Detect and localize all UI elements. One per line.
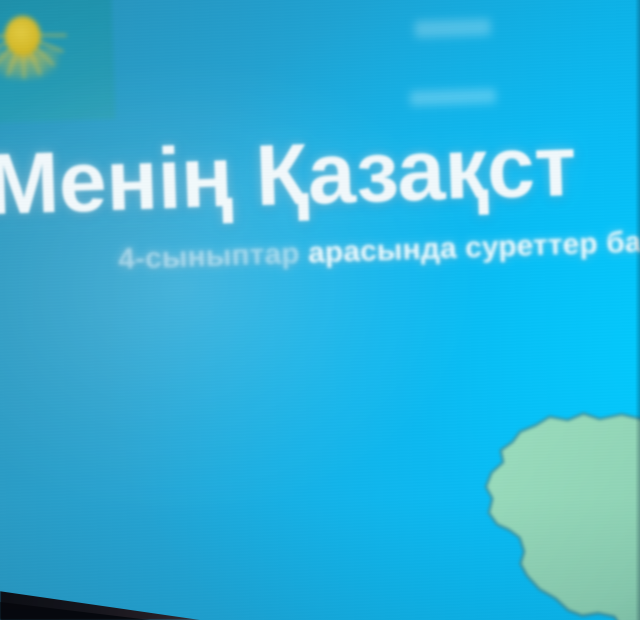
photo-frame: Менің Қазақст 4-сыныптар арасында суретт… [0,0,640,620]
decorative-bar [414,18,491,38]
kazakhstan-flag [0,0,116,124]
slide-subtitle-faded: 4-сыныптар [118,237,309,276]
flag-emblem [0,0,68,89]
slide-subtitle: 4-сыныптар арасында суреттер ба [118,219,640,277]
slide-subtitle-bright: арасында суреттер ба [308,226,640,270]
kazakhstan-map-silhouette [472,407,640,620]
slide-title: Менің Қазақст [0,115,640,231]
map-outline-path [484,409,640,620]
projected-slide: Менің Қазақст 4-сыныптар арасында суретт… [0,0,640,620]
decorative-bar [410,88,496,106]
